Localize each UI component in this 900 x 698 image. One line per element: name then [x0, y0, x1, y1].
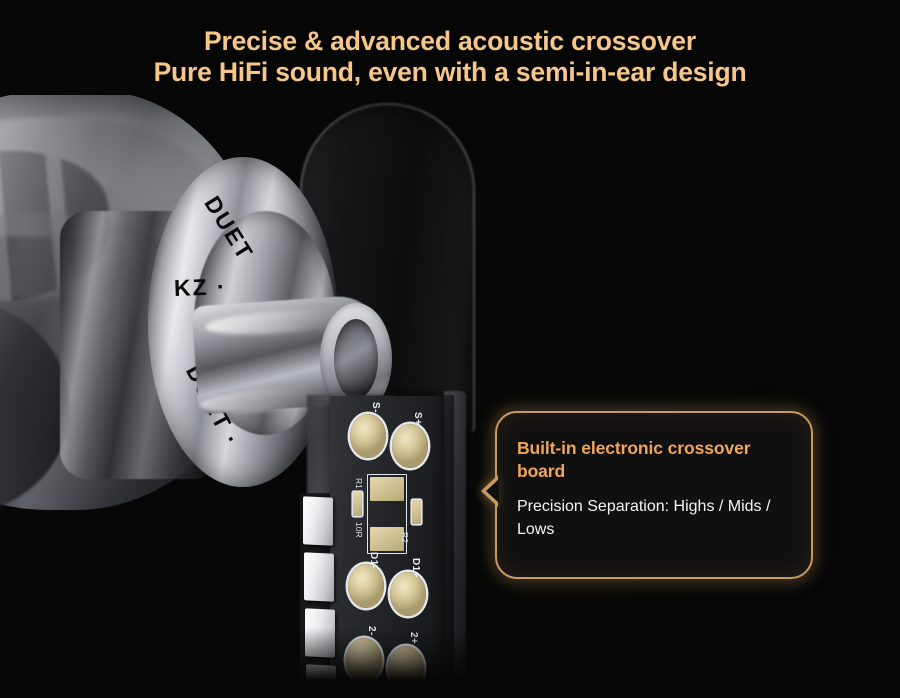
- component-r1-pad: [370, 477, 404, 501]
- connector-block: [303, 496, 333, 546]
- page-title: Precise & advanced acoustic crossover Pu…: [0, 26, 900, 89]
- solder-pad-d1-minus: [348, 564, 384, 608]
- solder-pad-d1-plus: [390, 572, 426, 616]
- product-photo: DUET KZ · DUET · S- S+ R1: [0, 95, 900, 698]
- headline-line-1: Precise & advanced acoustic crossover: [0, 26, 900, 57]
- callout-content: Built-in electronic crossover board Prec…: [497, 413, 811, 542]
- resistor-right: [412, 500, 421, 524]
- silkscreen-10r: 10R: [354, 522, 364, 538]
- callout-pointer-inner: [486, 479, 499, 503]
- solder-pad-2-minus: [346, 638, 382, 682]
- pad-label-s-minus: S-: [370, 402, 381, 413]
- solder-pad-s-minus: [350, 414, 386, 458]
- headline-line-2: Pure HiFi sound, even with a semi-in-ear…: [0, 57, 900, 88]
- pad-label-2-minus: 2-: [366, 626, 377, 636]
- silkscreen-r1: R1: [354, 478, 364, 489]
- callout-title: Built-in electronic crossover board: [517, 437, 789, 483]
- connector-block: [305, 608, 335, 658]
- pcb-right-shadow: [430, 395, 454, 698]
- component-r2-pad: [370, 527, 404, 551]
- solder-pad-s-plus: [392, 424, 428, 468]
- pad-label-s-plus: S+: [412, 412, 423, 425]
- pad-label-d1-minus: D1-: [368, 552, 379, 569]
- resistor-left: [353, 492, 362, 516]
- pad-label-2-plus: 2+: [408, 632, 419, 644]
- product-marketing-banner: DUET KZ · DUET · S- S+ R1: [0, 0, 900, 698]
- pad-label-d1-plus: D1+: [410, 558, 421, 578]
- nozzle-bore: [334, 319, 378, 399]
- connector-block: [304, 552, 334, 602]
- solder-pad-2-plus: [388, 646, 424, 690]
- feature-callout: Built-in electronic crossover board Prec…: [495, 411, 813, 579]
- crossover-pcb: S- S+ R1 10R R2 D1- D1+ 2- 2+: [330, 396, 444, 698]
- connector-block: [306, 664, 336, 698]
- silkscreen-r2: R2: [400, 532, 410, 543]
- callout-body: Precision Separation: Highs / Mids / Low…: [517, 496, 789, 541]
